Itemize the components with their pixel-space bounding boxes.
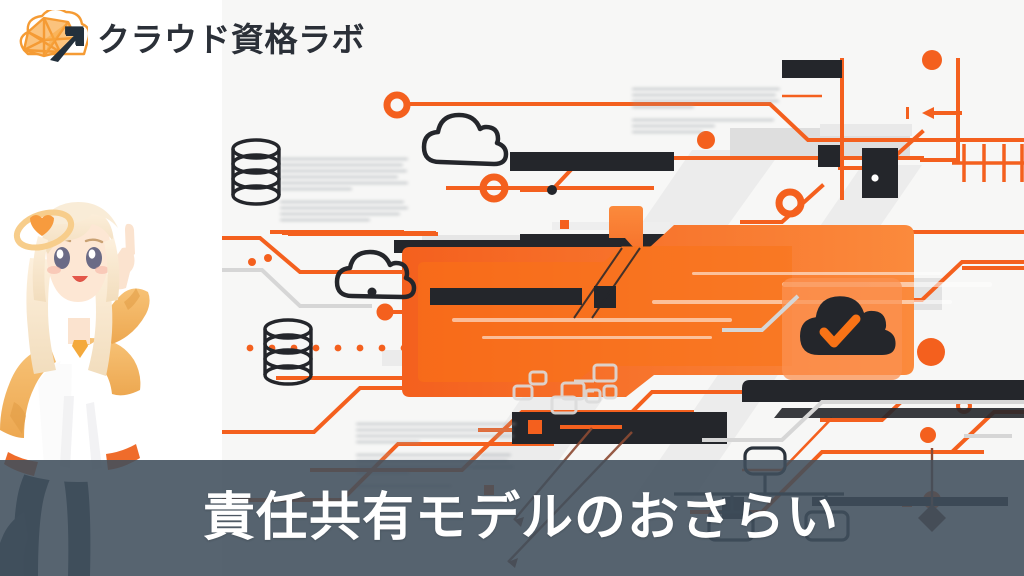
brand-logo[interactable]: クラウド資格ラボ: [14, 10, 365, 68]
brand-name: クラウド資格ラボ: [97, 23, 365, 56]
placeholder-text-block: [632, 88, 780, 137]
page-title: 責任共有モデルのおさらい: [185, 492, 839, 544]
placeholder-text-block: [280, 158, 408, 225]
polygonal-cloud-arrow-logo-icon: [14, 10, 88, 68]
title-bar: 責任共有モデルのおさらい: [0, 460, 1024, 576]
slide-canvas: クラウド資格ラボ 責任共有モデルのおさらい: [0, 0, 1024, 576]
